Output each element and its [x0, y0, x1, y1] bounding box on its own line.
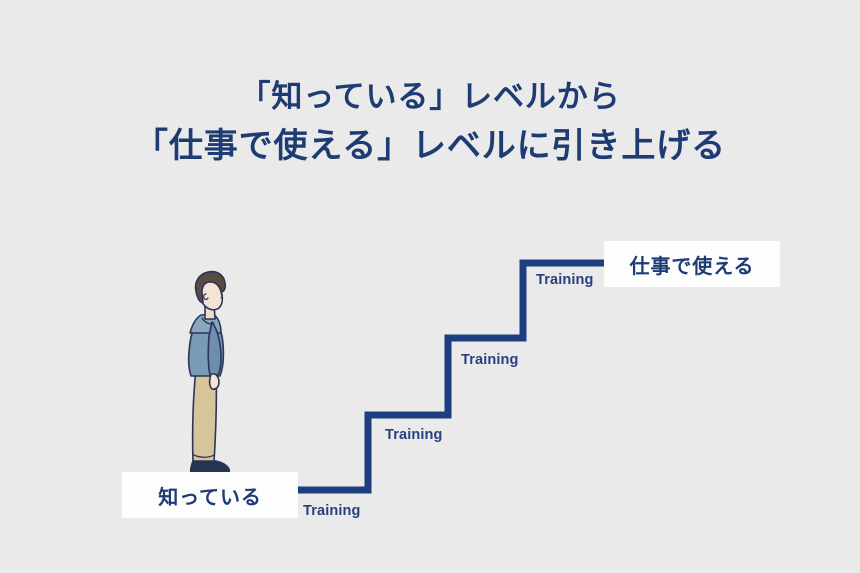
- callout-goal-level: 仕事で使える: [604, 241, 780, 287]
- callout-goal-label: 仕事で使える: [630, 250, 755, 279]
- step-label-2: Training: [385, 427, 443, 443]
- person-hand: [210, 374, 219, 389]
- step-label-4: Training: [536, 272, 594, 288]
- staircase-path: [300, 263, 700, 490]
- step-label-1: Training: [303, 503, 361, 519]
- callout-start-label: 知っている: [158, 481, 262, 510]
- step-label-3: Training: [461, 352, 519, 368]
- slide-canvas: 「知っている」レベルから 「仕事で使える」レベルに引き上げる: [0, 0, 860, 573]
- callout-start-level: 知っている: [122, 472, 298, 518]
- person-figure: [189, 272, 230, 473]
